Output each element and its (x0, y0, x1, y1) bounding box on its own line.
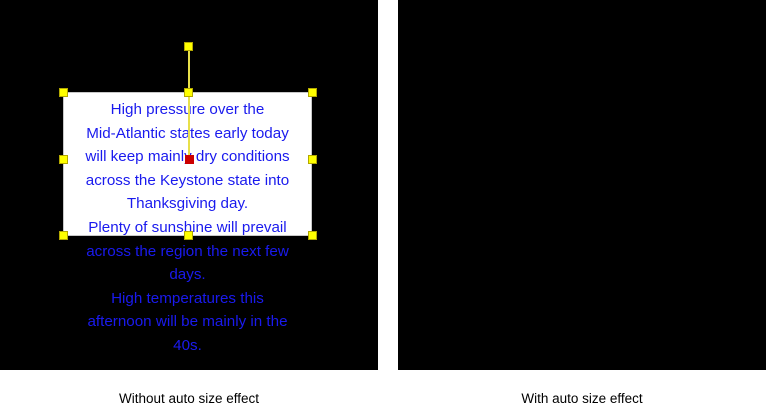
map-canvas-right[interactable]: High pressure over the Mid-Atlantic stat… (398, 0, 766, 370)
caption-left: Without auto size effect (0, 378, 378, 420)
resize-handle-top-left[interactable] (59, 88, 68, 97)
comparison-figure: High pressure over the Mid-Atlantic stat… (0, 0, 766, 420)
resize-handle-middle-left[interactable] (59, 155, 68, 164)
resize-handle-bottom-right[interactable] (308, 231, 317, 240)
anchor-point-marker-icon[interactable] (185, 155, 194, 164)
resize-handle-bottom-left[interactable] (59, 231, 68, 240)
caption-right: With auto size effect (398, 378, 766, 420)
rotation-handle-icon[interactable] (184, 42, 193, 51)
resize-handle-top-center[interactable] (184, 88, 193, 97)
resize-handle-middle-right[interactable] (308, 155, 317, 164)
resize-handle-top-right[interactable] (308, 88, 317, 97)
resize-handle-bottom-center[interactable] (184, 231, 193, 240)
map-canvas-left[interactable]: High pressure over the Mid-Atlantic stat… (0, 0, 378, 370)
leader-line-icon (188, 46, 190, 160)
